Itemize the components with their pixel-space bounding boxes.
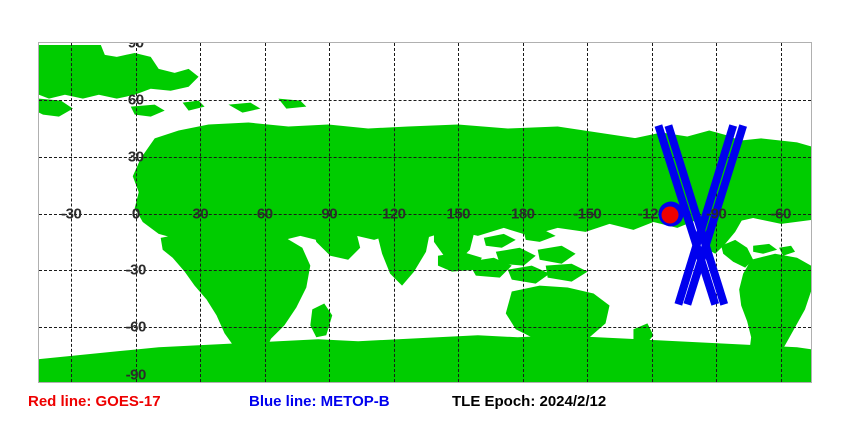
legend-metop-b: Blue line: METOP-B	[249, 393, 390, 410]
marker-goes-17	[662, 207, 679, 224]
legend-bar: Red line: GOES-17 Blue line: METOP-B TLE…	[0, 393, 850, 425]
legend-tle-epoch: TLE Epoch: 2024/2/12	[452, 393, 606, 410]
metop-b-ground-tracks	[39, 43, 811, 382]
world-map-plot: -30 0 30 60 90 120 150 180 -150 -120 -90…	[38, 42, 812, 383]
legend-goes-17: Red line: GOES-17	[28, 393, 161, 410]
